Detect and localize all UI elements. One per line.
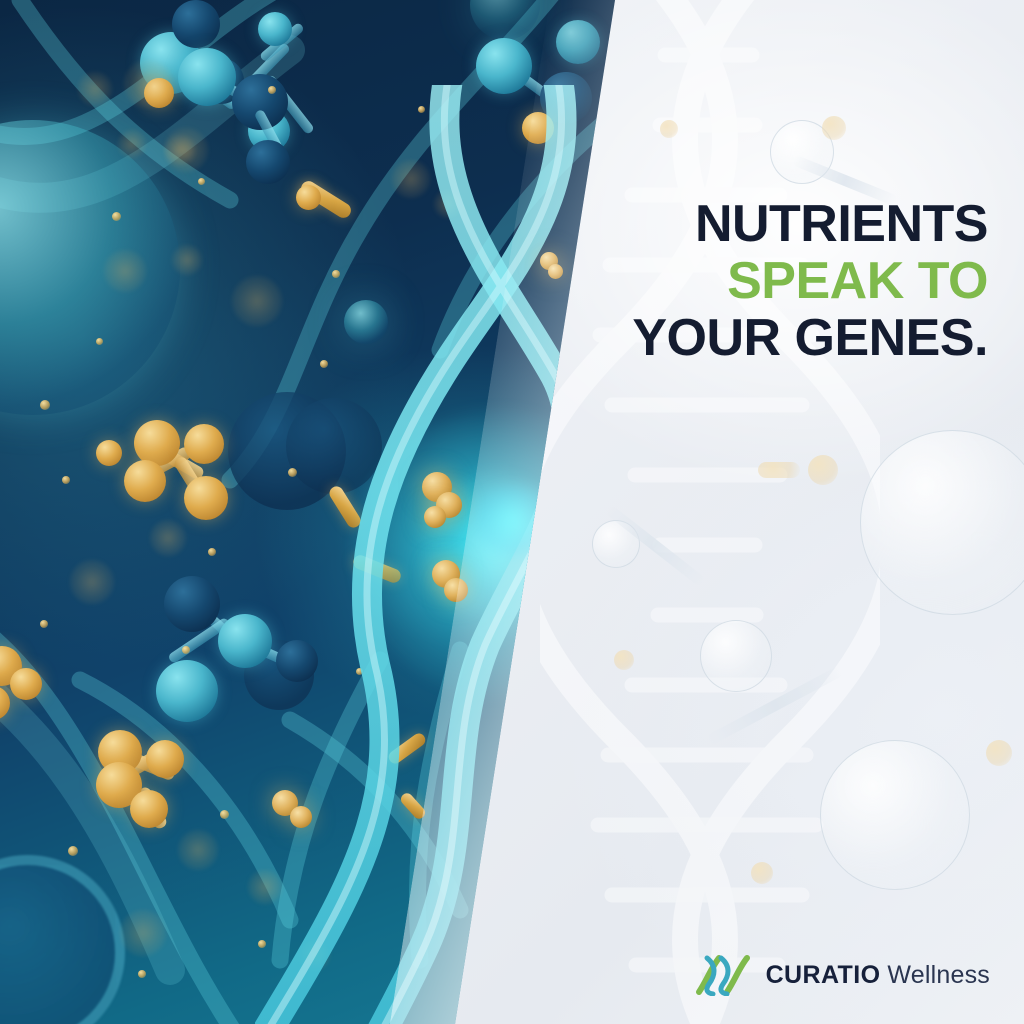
ghost-gold-speck-4	[751, 862, 773, 884]
headline-block: NUTRIENTS SPEAK TO YOUR GENES.	[468, 196, 988, 368]
brand-logo[interactable]: CURATIO Wellness	[693, 954, 990, 996]
headline-line-2: SPEAK TO	[468, 253, 988, 310]
speck-10	[182, 646, 190, 654]
brand-name-curati: CURATIO	[766, 961, 881, 990]
bokeh-7	[172, 245, 202, 275]
poster-canvas: NUTRIENTS SPEAK TO YOUR GENES. CURATIO W…	[0, 0, 1024, 1024]
speck-13	[138, 970, 146, 978]
bokeh-11	[178, 830, 218, 870]
ghost-gold-speck-1	[808, 455, 838, 485]
gold-cluster-helix-5	[444, 578, 468, 602]
bokeh-10	[70, 560, 114, 604]
bokeh-4	[118, 130, 146, 158]
bokeh-13	[120, 910, 166, 956]
bokeh-9	[150, 520, 186, 556]
ghost-gold-speck-7	[660, 120, 678, 138]
speck-18	[96, 338, 103, 345]
speck-1	[112, 212, 121, 221]
gold-cluster-helix-3	[424, 506, 446, 528]
gold-cluster-helix-7	[290, 806, 312, 828]
headline-line-3: YOUR GENES.	[468, 310, 988, 367]
headline-line-1: NUTRIENTS	[468, 196, 988, 253]
bokeh-1	[124, 60, 172, 108]
speck-2	[198, 178, 205, 185]
speck-6	[62, 476, 70, 484]
speck-9	[40, 620, 48, 628]
brand-wordmark: CURATIO Wellness	[766, 961, 990, 990]
ghost-cell-small	[700, 620, 772, 692]
ghost-gold-speck-3	[986, 740, 1012, 766]
brand-name-wellness: Wellness	[887, 961, 990, 990]
bokeh-6	[104, 250, 146, 292]
speck-11	[68, 846, 78, 856]
speck-5	[40, 400, 50, 410]
brand-name-curatio: CURATIO	[766, 961, 881, 990]
ghost-gold-speck-6	[822, 116, 846, 140]
dna-helix-logo-mark	[693, 954, 753, 996]
ghost-cell-medium	[820, 740, 970, 890]
ghost-gold-speck-5	[614, 650, 634, 670]
speck-8	[208, 548, 216, 556]
ghost-gold-speck-2	[758, 462, 800, 478]
speck-12	[220, 810, 229, 819]
bokeh-2	[78, 72, 112, 106]
ghost-cell-large	[860, 430, 1024, 615]
bokeh-5	[165, 135, 195, 165]
